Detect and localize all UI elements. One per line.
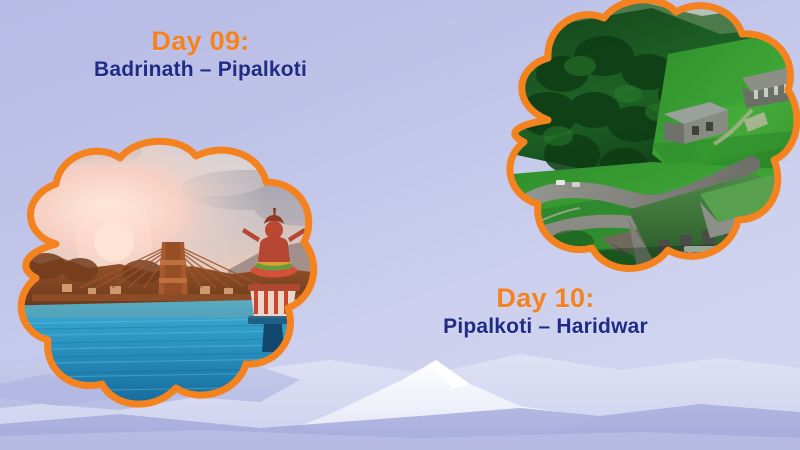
day-10-label: Day 10: (373, 283, 718, 313)
day-09-route-label: Badrinath – Pipalkoti (28, 58, 373, 82)
presentation-slide: Day 09: Badrinath – Pipalkoti Day 10: Pi… (0, 0, 800, 450)
caption-day-10: Day 10: Pipalkoti – Haridwar (373, 283, 718, 339)
photo-frame-haridwar[interactable] (0, 138, 340, 406)
pipalkoti-photo-content (492, 0, 800, 294)
caption-day-09: Day 09: Badrinath – Pipalkoti (28, 26, 373, 82)
day-09-label: Day 09: (28, 26, 373, 56)
photo-frame-pipalkoti[interactable] (452, 0, 800, 294)
day-10-route-label: Pipalkoti – Haridwar (373, 315, 718, 339)
